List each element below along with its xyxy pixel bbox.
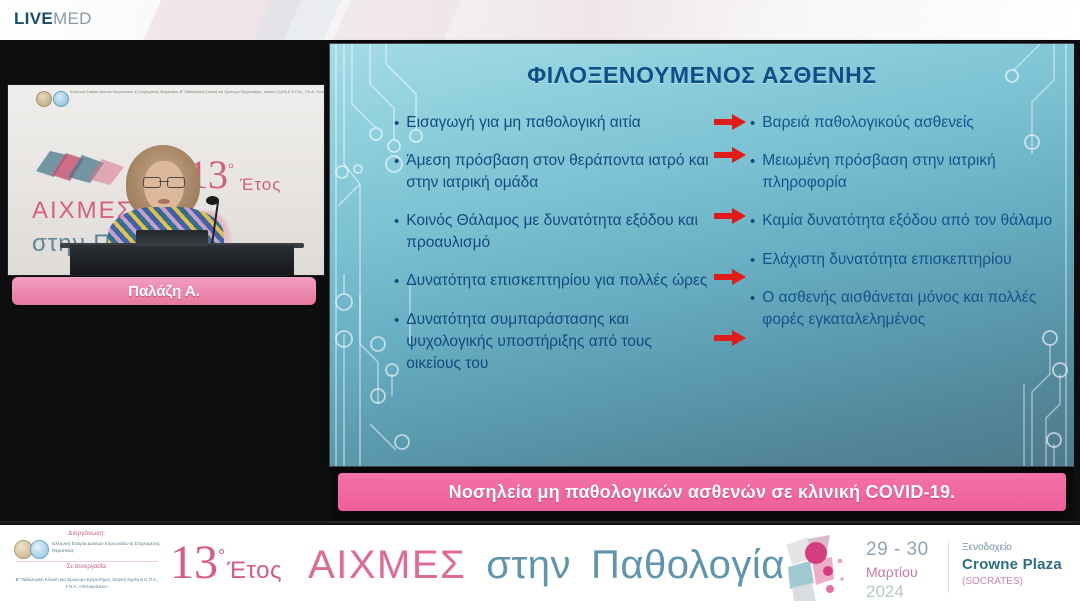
venue-name: Crowne Plaza xyxy=(962,556,1074,573)
event-date-block: 29 - 30 Μαρτίου 2024 xyxy=(866,539,944,602)
bullet-dot: • xyxy=(750,288,755,309)
screen: LIVEMED Ελληνική Εταιρία Δεικτών Κορωνια… xyxy=(0,0,1080,608)
logo-med-text: MED xyxy=(53,9,92,28)
organizer-seal-2-icon xyxy=(30,540,49,559)
red-arrow-icon xyxy=(714,330,746,346)
bullet-text: Βαρειά παθολογικούς ασθενείς xyxy=(762,112,1060,134)
backdrop-seal-2-icon xyxy=(53,91,69,107)
collaboration-label: Σε συνεργασία: xyxy=(12,564,162,570)
event-venue-block: Ξενοδοχείο Crowne Plaza (SOCRATES) xyxy=(962,542,1074,587)
bullet-dot: • xyxy=(750,113,755,134)
slide-caption-banner: Νοσηλεία μη παθολογικών ασθενών σε κλινι… xyxy=(338,473,1066,511)
top-bar: LIVEMED xyxy=(0,0,1080,40)
logo-live-text: LIVE xyxy=(14,9,53,28)
backdrop-seal-1-icon xyxy=(36,91,52,107)
bullet-dot: • xyxy=(394,151,399,172)
bullet-text: Δυνατότητα επισκεπτηρίου για πολλές ώρες xyxy=(406,270,710,292)
bullet-dot: • xyxy=(394,211,399,232)
left-panel: Ελληνική Εταιρία Δεικτών Κορωνιαίου & Στ… xyxy=(0,40,330,521)
organizer-name: Ελληνική Εταιρία Δεικτών Κορωνιαίου & Στ… xyxy=(52,540,160,554)
list-item: • Δυνατότητα συμπαράστασης και ψυχολογικ… xyxy=(394,309,710,375)
microphone-head-icon xyxy=(206,196,219,205)
backdrop-logo-shapes-icon xyxy=(34,147,130,189)
bullet-dot: • xyxy=(394,113,399,134)
bullet-text: Ο ασθενής αισθάνεται μόνος και πολλές φο… xyxy=(762,287,1060,331)
presentation-slide[interactable]: ΦΙΛΟΞΕΝΟΥΜΕΝΟΣ ΑΣΘΕΝΗΣ • Εισαγωγή για μη… xyxy=(330,44,1074,466)
bullet-text: Ελάχιστη δυνατότητα επισκεπτηρίου xyxy=(762,249,1060,271)
event-date-month: Μαρτίου xyxy=(866,564,944,580)
list-item: • Μειωμένη πρόσβαση στην ιατρική πληροφο… xyxy=(750,150,1060,194)
right-gutter xyxy=(1074,40,1080,521)
organizer-divider xyxy=(16,561,158,562)
list-item: • Ελάχιστη δυνατότητα επισκεπτηρίου xyxy=(750,249,1060,271)
backdrop-etos-text: Έτος xyxy=(240,175,281,195)
organizer-label: Διοργάνωση: xyxy=(12,531,162,537)
backdrop-header-left: Ελληνική Εταιρία Δεικτών Κορωνιαίου & Στ… xyxy=(70,90,178,96)
list-item: • Εισαγωγή για μη παθολογική αιτία xyxy=(394,112,710,134)
event-edition-etos: Έτος xyxy=(227,557,282,585)
slide-caption-text: Νοσηλεία μη παθολογικών ασθενών σε κλινι… xyxy=(449,482,956,503)
backdrop-header-right: Β' Παθολογική Κλινική και Ομώνυμο Εργαστ… xyxy=(180,90,324,96)
bullet-dot: • xyxy=(394,271,399,292)
podium xyxy=(70,245,294,275)
event-date-days: 29 - 30 xyxy=(866,539,944,561)
list-item: • Άμεση πρόσβαση στον θεράποντα ιατρό κα… xyxy=(394,150,710,194)
laptop xyxy=(136,230,208,246)
bullet-text: Μειωμένη πρόσβαση στην ιατρική πληροφορί… xyxy=(762,150,1060,194)
livemed-logo[interactable]: LIVEMED xyxy=(14,9,92,29)
event-title-pathologia: Παθολογία xyxy=(591,543,785,588)
collaboration-name: Β' Παθολογική Κλινική και Ομώνυμο Εργαστ… xyxy=(12,576,162,590)
red-arrow-icon xyxy=(714,114,746,130)
bullet-dot: • xyxy=(750,250,755,271)
list-item: • Καμία δυνατότητα εξόδου από τον θάλαμο xyxy=(750,210,1060,232)
organizer-seals xyxy=(14,540,48,558)
red-arrow-icon xyxy=(714,208,746,224)
bullet-text: Εισαγωγή για μη παθολογική αιτία xyxy=(406,112,710,134)
venue-room: (SOCRATES) xyxy=(962,576,1074,587)
speaker-mouth xyxy=(158,199,170,204)
bullet-text: Καμία δυνατότητα εξόδου από τον θάλαμο xyxy=(762,210,1060,232)
bullet-text: Δυνατότητα συμπαράστασης και ψυχολογικής… xyxy=(406,309,710,375)
speaker-name-badge: Παλάζη Α. xyxy=(12,277,316,305)
venue-label: Ξενοδοχείο xyxy=(962,542,1074,553)
event-date-year: 2024 xyxy=(866,582,944,602)
event-edition-number: 13 xyxy=(170,539,218,587)
event-edition-degree: ° xyxy=(218,546,225,567)
slide-right-column: • Βαρειά παθολογικούς ασθενείς • Μειωμέν… xyxy=(750,112,1060,347)
bullet-text: Άμεση πρόσβαση στον θεράποντα ιατρό και … xyxy=(406,150,710,194)
event-footer-banner: Διοργάνωση: Ελληνική Εταιρία Δεικτών Κορ… xyxy=(0,525,1080,608)
bullet-text: Κοινός Θάλαμος με δυνατότητα εξόδου και … xyxy=(406,210,710,254)
bullet-dot: • xyxy=(394,310,399,331)
event-title-stin: στην xyxy=(486,543,571,588)
event-title: 13 ° Έτος ΑΙΧΜΕΣ στην Παθολογία xyxy=(170,539,785,588)
list-item: • Βαρειά παθολογικούς ασθενείς xyxy=(750,112,1060,134)
bullet-dot: • xyxy=(750,211,755,232)
topbar-decoration-3 xyxy=(320,0,470,40)
speaker-video-feed[interactable]: Ελληνική Εταιρία Δεικτών Κορωνιαίου & Στ… xyxy=(8,85,324,275)
list-item: • Ο ασθενής αισθάνεται μόνος και πολλές … xyxy=(750,287,1060,331)
list-item: • Κοινός Θάλαμος με δυνατότητα εξόδου κα… xyxy=(394,210,710,254)
event-title-aixmes: ΑΙΧΜΕΣ xyxy=(308,543,466,588)
slide-title: ΦΙΛΟΞΕΝΟΥΜΕΝΟΣ ΑΣΘΕΝΗΣ xyxy=(330,62,1074,89)
speaker-glasses-icon xyxy=(143,177,185,186)
red-arrow-icon xyxy=(714,269,746,285)
list-item: • Δυνατότητα επισκεπτηρίου για πολλές ώρ… xyxy=(394,270,710,292)
organizer-block: Διοργάνωση: Ελληνική Εταιρία Δεικτών Κορ… xyxy=(12,531,162,537)
slide-left-column: • Εισαγωγή για μη παθολογική αιτία • Άμε… xyxy=(394,112,710,391)
red-arrow-icon xyxy=(714,147,746,163)
footer-vertical-divider xyxy=(948,541,949,593)
footer-artwork-icon xyxy=(782,531,854,603)
speaker-name-label: Παλάζη Α. xyxy=(128,283,200,300)
bullet-dot: • xyxy=(750,151,755,172)
